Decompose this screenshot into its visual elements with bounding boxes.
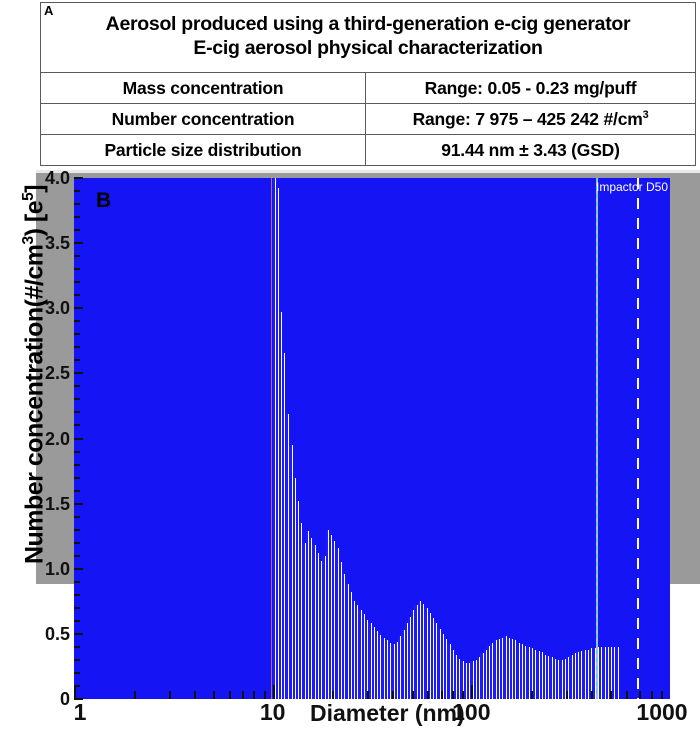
y-minor-tick-mark xyxy=(74,464,80,466)
y-tick-mark xyxy=(74,177,83,179)
x-minor-tick-mark xyxy=(194,691,196,699)
x-minor-tick-mark xyxy=(412,691,414,699)
y-minor-tick-mark xyxy=(74,594,80,596)
superscript-3: 3 xyxy=(643,109,649,121)
impactor-dashed-line xyxy=(637,178,639,699)
y-minor-tick-mark xyxy=(74,333,80,335)
x-major-tick-mark xyxy=(273,685,275,699)
x-axis-tick-labels: Diameter (nm) 1101001000 xyxy=(0,701,700,741)
y-minor-tick-mark xyxy=(74,359,80,361)
x-minor-tick-mark xyxy=(213,691,215,699)
y-tick-label: 2.5 xyxy=(36,364,70,382)
data-start-accent-line xyxy=(271,178,272,699)
x-minor-tick-mark xyxy=(242,691,244,699)
y-axis-tick-labels: 00.51.01.52.02.53.03.54.0 xyxy=(36,170,70,584)
panel-b-chart: Number concentration(#/cm3) [e5] 00.51.0… xyxy=(0,170,700,584)
histogram-bar xyxy=(615,647,618,699)
y-minor-tick-mark xyxy=(74,646,80,648)
x-minor-tick-mark xyxy=(169,691,171,699)
y-minor-tick-mark xyxy=(74,672,80,674)
y-minor-tick-mark xyxy=(74,581,80,583)
x-minor-tick-mark xyxy=(264,691,266,699)
table-row: Number concentration Range: 7 975 – 425 … xyxy=(41,104,696,135)
x-minor-tick-mark xyxy=(626,691,628,699)
panel-letter-a: A xyxy=(44,4,53,17)
x-major-tick-mark xyxy=(74,685,76,699)
x-minor-tick-mark xyxy=(253,691,255,699)
y-minor-tick-mark xyxy=(74,529,80,531)
row-value-text: Range: 7 975 – 425 242 #/cm xyxy=(413,109,643,129)
y-minor-tick-mark xyxy=(74,294,80,296)
y-minor-tick-mark xyxy=(74,516,80,518)
x-minor-tick-mark xyxy=(367,691,369,699)
x-minor-tick-mark xyxy=(661,691,663,699)
x-tick-label: 100 xyxy=(452,701,490,724)
y-minor-tick-mark xyxy=(74,320,80,322)
row-label-number-concentration: Number concentration xyxy=(41,104,366,135)
table-row: Particle size distribution 91.44 nm ± 3.… xyxy=(41,135,696,166)
y-minor-tick-mark xyxy=(74,607,80,609)
panel-a-table: A Aerosol produced using a third-generat… xyxy=(40,2,696,166)
figure-top-strip xyxy=(36,170,700,173)
x-tick-label: 1 xyxy=(74,701,87,724)
y-tick-label: 3.5 xyxy=(36,234,70,252)
x-minor-tick-mark xyxy=(591,691,593,699)
x-minor-tick-mark xyxy=(452,691,454,699)
y-minor-tick-mark xyxy=(74,568,80,570)
y-tick-mark xyxy=(74,438,83,440)
y-minor-tick-mark xyxy=(74,216,80,218)
y-minor-tick-mark xyxy=(74,477,80,479)
x-tick-label: 1000 xyxy=(636,701,687,724)
y-tick-mark xyxy=(74,698,83,700)
y-tick-mark xyxy=(74,372,83,374)
row-label-mass-concentration: Mass concentration xyxy=(41,73,366,104)
table-header-row: A Aerosol produced using a third-generat… xyxy=(41,3,696,73)
y-tick-label: 1.0 xyxy=(36,560,70,578)
x-minor-tick-mark xyxy=(134,691,136,699)
y-minor-tick-mark xyxy=(74,685,80,687)
table-title-cell: A Aerosol produced using a third-generat… xyxy=(41,3,696,73)
y-tick-mark xyxy=(74,307,83,309)
y-minor-tick-mark xyxy=(74,424,80,426)
y-minor-tick-mark xyxy=(74,490,80,492)
x-minor-tick-mark xyxy=(332,691,334,699)
x-axis-label: Diameter (nm) xyxy=(310,702,465,725)
characterization-table: A Aerosol produced using a third-generat… xyxy=(40,2,696,166)
y-minor-tick-mark xyxy=(74,203,80,205)
row-value-number-concentration: Range: 7 975 – 425 242 #/cm3 xyxy=(366,104,696,135)
impactor-d50-label: Impactor D50 xyxy=(596,181,668,193)
y-tick-mark xyxy=(74,633,83,635)
y-minor-tick-mark xyxy=(74,385,80,387)
y-minor-tick-mark xyxy=(74,659,80,661)
table-title-line2: E-cig aerosol physical characterization xyxy=(45,37,691,61)
y-minor-tick-mark xyxy=(74,411,80,413)
x-tick-label: 10 xyxy=(260,701,286,724)
impactor-d50-solid-line xyxy=(596,178,598,699)
y-tick-label: 2.0 xyxy=(36,430,70,448)
x-major-tick-mark xyxy=(471,685,473,699)
histogram-bars xyxy=(74,178,670,699)
y-minor-tick-mark xyxy=(74,346,80,348)
y-tick-mark xyxy=(74,503,83,505)
x-minor-tick-mark xyxy=(441,691,443,699)
table-row: Mass concentration Range: 0.05 - 0.23 mg… xyxy=(41,73,696,104)
y-minor-tick-mark xyxy=(74,229,80,231)
plot-area: Impactor D50 B xyxy=(74,178,670,699)
x-minor-tick-mark xyxy=(229,691,231,699)
y-tick-label: 0.5 xyxy=(36,625,70,643)
row-value-particle-size-distribution: 91.44 nm ± 3.43 (GSD) xyxy=(366,135,696,166)
y-tick-label: 3.0 xyxy=(36,299,70,317)
x-minor-tick-mark xyxy=(610,691,612,699)
y-tick-mark xyxy=(74,242,83,244)
table-title-line1: Aerosol produced using a third-generatio… xyxy=(45,13,691,37)
y-minor-tick-mark xyxy=(74,542,80,544)
x-minor-tick-mark xyxy=(566,691,568,699)
row-value-mass-concentration: Range: 0.05 - 0.23 mg/puff xyxy=(366,73,696,104)
x-minor-tick-mark xyxy=(651,691,653,699)
y-minor-tick-mark xyxy=(74,268,80,270)
y-minor-tick-mark xyxy=(74,555,80,557)
x-minor-tick-mark xyxy=(639,691,641,699)
panel-letter-b: B xyxy=(96,190,111,211)
y-tick-label: 4.0 xyxy=(36,169,70,187)
y-minor-tick-mark xyxy=(74,451,80,453)
y-minor-tick-mark xyxy=(74,620,80,622)
row-label-particle-size-distribution: Particle size distribution xyxy=(41,135,366,166)
y-tick-label: 1.5 xyxy=(36,495,70,513)
y-minor-tick-mark xyxy=(74,255,80,257)
y-minor-tick-mark xyxy=(74,190,80,192)
y-minor-tick-mark xyxy=(74,281,80,283)
x-minor-tick-mark xyxy=(427,691,429,699)
x-minor-tick-mark xyxy=(462,691,464,699)
x-minor-tick-mark xyxy=(392,691,394,699)
y-minor-tick-mark xyxy=(74,398,80,400)
x-minor-tick-mark xyxy=(531,691,533,699)
